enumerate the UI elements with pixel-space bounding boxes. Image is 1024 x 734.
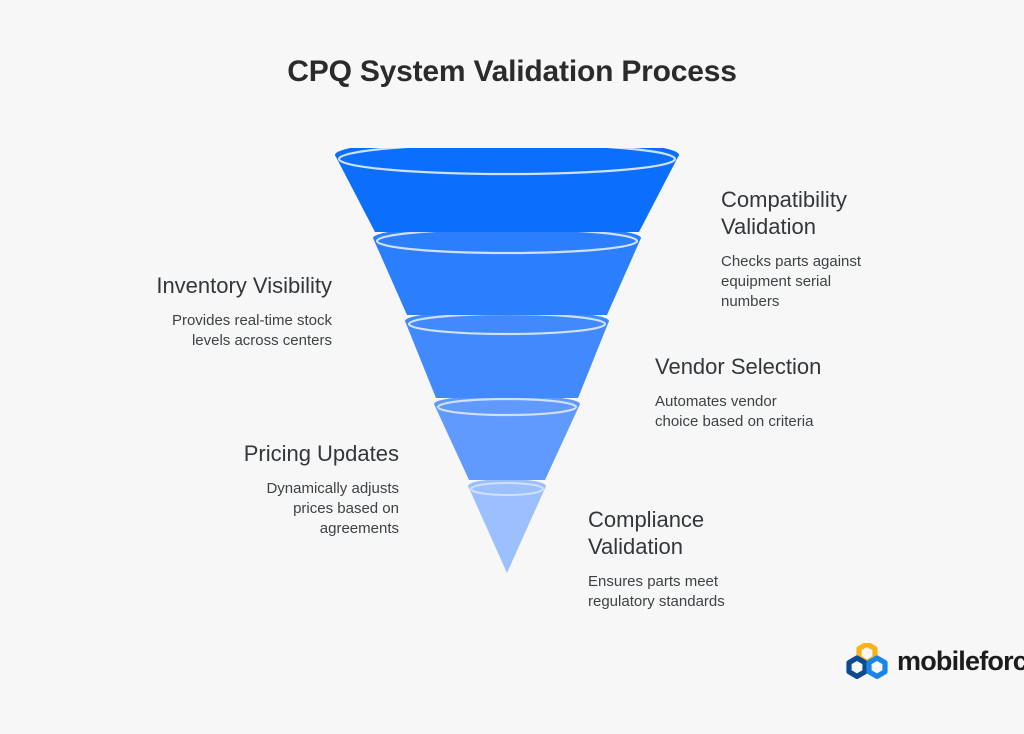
callout-description: Automates vendor choice based on criteri… — [655, 392, 880, 432]
funnel-stage-inventory — [373, 225, 641, 315]
callout-vendor-selection: Vendor Selection Automates vendor choice… — [655, 354, 880, 432]
page-title: CPQ System Validation Process — [0, 55, 1024, 89]
callout-description: Ensures parts meet regulatory standards — [588, 572, 803, 612]
callout-description: Checks parts against equipment serial nu… — [721, 252, 931, 312]
callout-title: Compatibility Validation — [721, 187, 931, 241]
brand-wordmark: mobileforce — [897, 646, 1024, 677]
funnel-stage-compliance — [468, 479, 546, 573]
funnel-stage-compatibility — [335, 138, 679, 232]
callout-title: Vendor Selection — [655, 354, 880, 381]
callout-inventory-visibility: Inventory Visibility Provides real-time … — [100, 273, 332, 351]
mobileforce-hexagon-icon — [845, 643, 889, 679]
funnel-stage-vendor — [405, 310, 609, 398]
callout-compliance-validation: Compliance Validation Ensures parts meet… — [588, 507, 803, 612]
brand-logo: mobileforce — [845, 643, 1024, 679]
callout-compatibility-validation: Compatibility Validation Checks parts ag… — [721, 187, 931, 312]
funnel-stage-pricing — [434, 395, 580, 480]
callout-title: Inventory Visibility — [100, 273, 332, 300]
callout-title: Pricing Updates — [185, 441, 399, 468]
callout-description: Dynamically adjusts prices based on agre… — [185, 479, 399, 539]
callout-title: Compliance Validation — [588, 507, 803, 561]
callout-description: Provides real-time stock levels across c… — [100, 311, 332, 351]
callout-pricing-updates: Pricing Updates Dynamically adjusts pric… — [185, 441, 399, 539]
